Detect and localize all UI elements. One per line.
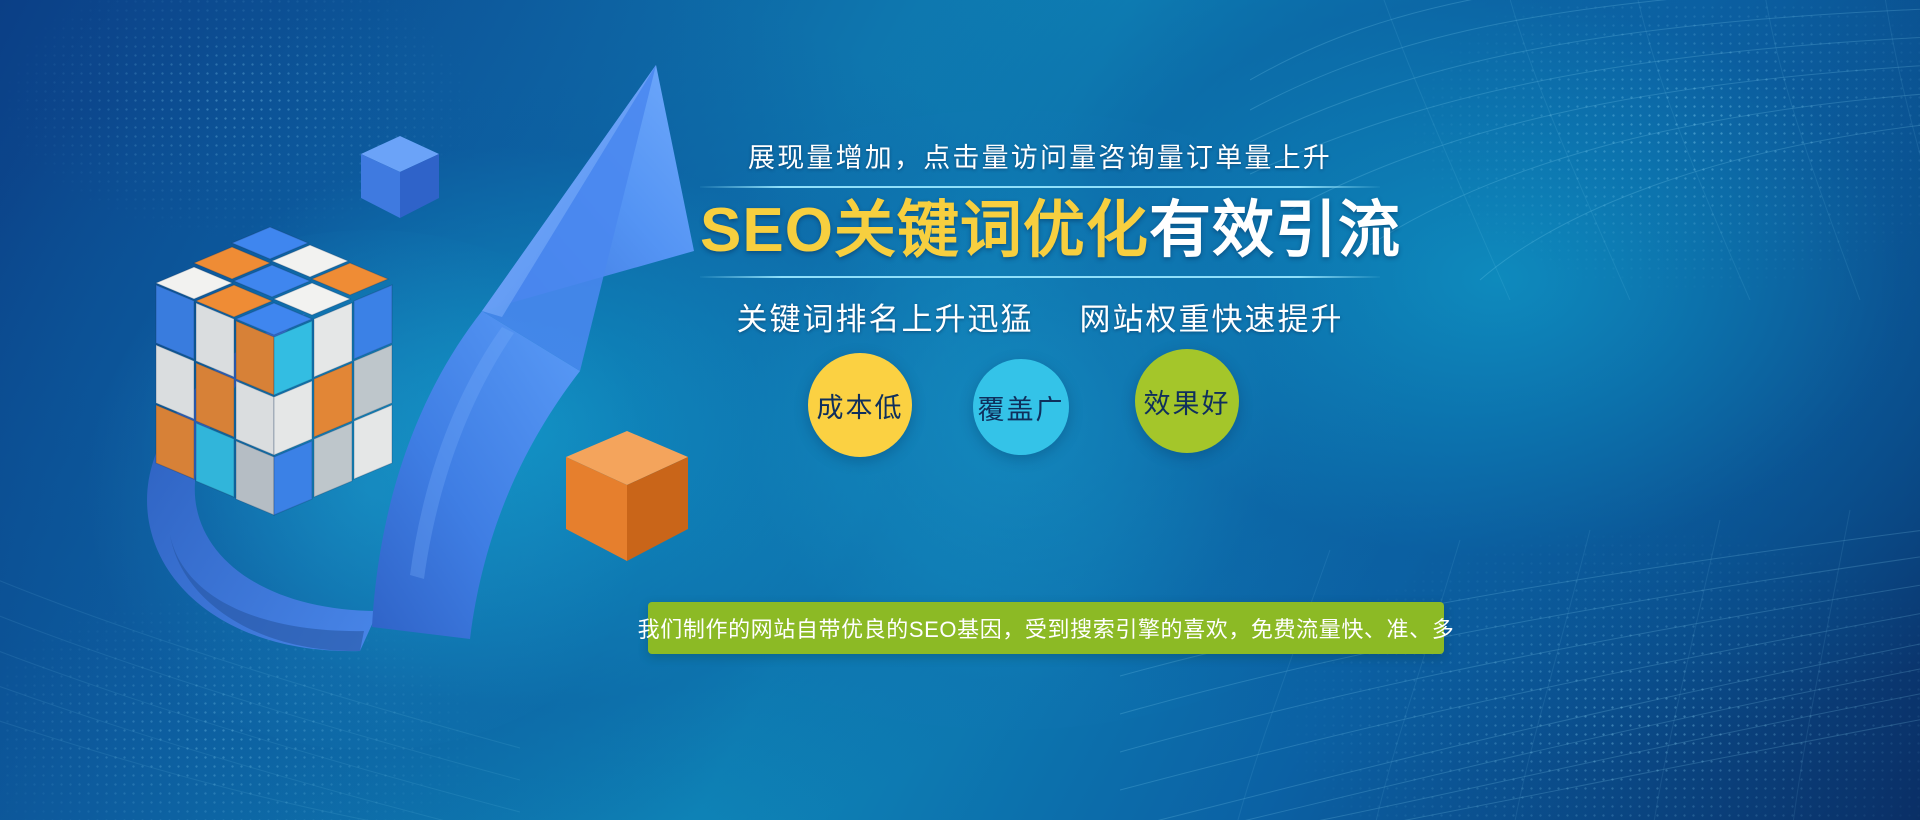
- feature-circle-label: 成本低: [817, 386, 904, 425]
- feature-circle-good-results[interactable]: 效果好: [1135, 349, 1239, 453]
- subline-right-text: 网站权重快速提升: [1080, 302, 1344, 337]
- mesh-lines-bottom-right: [1120, 490, 1920, 820]
- feature-circle-low-cost[interactable]: 成本低: [808, 353, 912, 457]
- divider-bottom: [700, 276, 1380, 278]
- page-title: SEO关键词优化有效引流: [700, 194, 1380, 267]
- kicker-text: 展现量增加，点击量访问量咨询量订单量上升: [700, 140, 1380, 176]
- rubiks-cube-svg: [120, 225, 450, 525]
- seo-promo-banner: 展现量增加，点击量访问量咨询量订单量上升 SEO关键词优化有效引流 关键词排名上…: [0, 0, 1920, 820]
- rubiks-cube-illustration: [120, 225, 450, 525]
- feature-circle-label: 效果好: [1144, 382, 1231, 421]
- feature-circle-wide-coverage[interactable]: 覆盖广: [973, 359, 1069, 455]
- subline-text: 关键词排名上升迅猛网站权重快速提升: [700, 294, 1380, 339]
- feature-circle-label: 覆盖广: [978, 388, 1065, 427]
- headline-gold-text: SEO关键词优化: [700, 196, 1149, 265]
- footer-ribbon-text: 我们制作的网站自带优良的SEO基因，受到搜索引擎的喜欢，免费流量快、准、多: [638, 612, 1455, 644]
- feature-circle-group: 成本低 覆盖广 效果好: [800, 345, 1300, 465]
- headline-white-text: 有效引流: [1149, 196, 1401, 265]
- headline-copy-block: 展现量增加，点击量访问量咨询量订单量上升 SEO关键词优化有效引流 关键词排名上…: [700, 140, 1380, 339]
- floating-blue-cube-icon: [355, 130, 445, 225]
- subline-left-text: 关键词排名上升迅猛: [737, 302, 1034, 337]
- floating-orange-cube-icon: [560, 425, 695, 570]
- divider-top: [700, 186, 1380, 188]
- footer-ribbon: 我们制作的网站自带优良的SEO基因，受到搜索引擎的喜欢，免费流量快、准、多: [648, 602, 1444, 654]
